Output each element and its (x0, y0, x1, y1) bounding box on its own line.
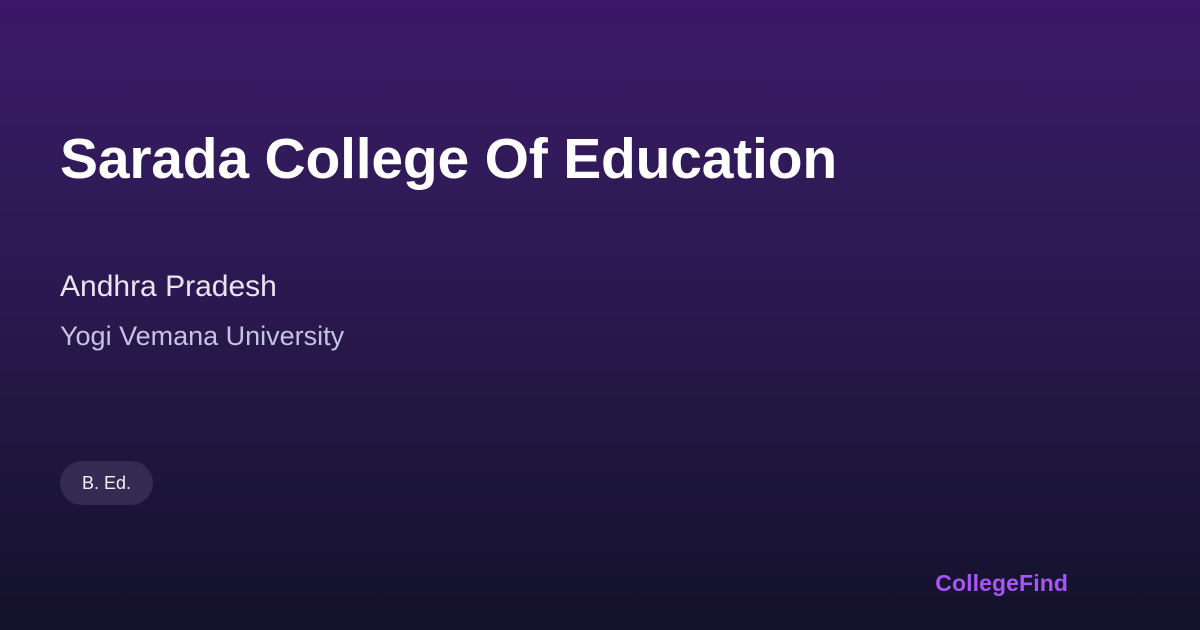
card-content: Sarada College Of Education Andhra Prade… (0, 0, 1200, 630)
college-meta: Andhra Pradesh Yogi Vemana University (60, 268, 344, 353)
course-tag-list: B. Ed. (60, 461, 153, 505)
college-university: Yogi Vemana University (60, 319, 344, 353)
college-share-card: Sarada College Of Education Andhra Prade… (0, 0, 1200, 630)
course-tag: B. Ed. (60, 461, 153, 505)
brand-logo: CollegeFind (935, 569, 1068, 597)
page-title: Sarada College Of Education (60, 125, 837, 193)
college-state: Andhra Pradesh (60, 268, 344, 306)
